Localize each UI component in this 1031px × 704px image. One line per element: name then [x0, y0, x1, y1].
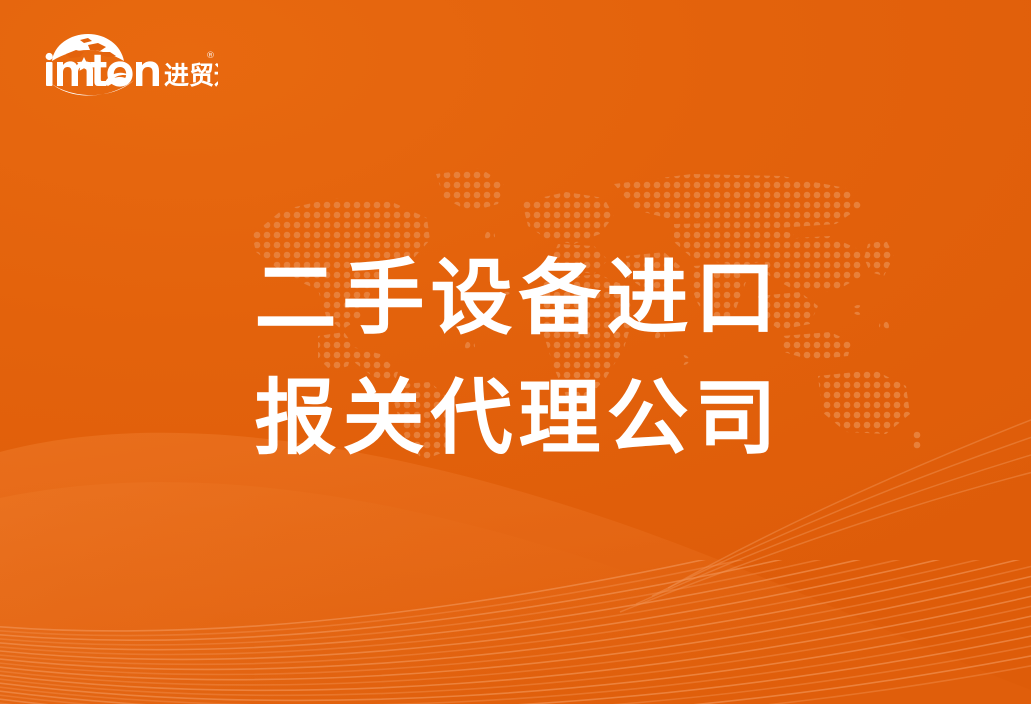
headline-line-1: 二手设备进口 [0, 258, 1031, 340]
logo-chinese-name: 进贸通 [164, 61, 218, 90]
trademark-symbol: ® [206, 51, 215, 61]
promo-banner: 进贸通 ® 二手设备进口 报关代理公司 [0, 0, 1031, 704]
headline: 二手设备进口 报关代理公司 [0, 258, 1031, 460]
logo-wordmark [46, 53, 159, 87]
headline-line-2: 报关代理公司 [0, 378, 1031, 460]
brand-logo[interactable]: 进贸通 ® [38, 28, 218, 100]
